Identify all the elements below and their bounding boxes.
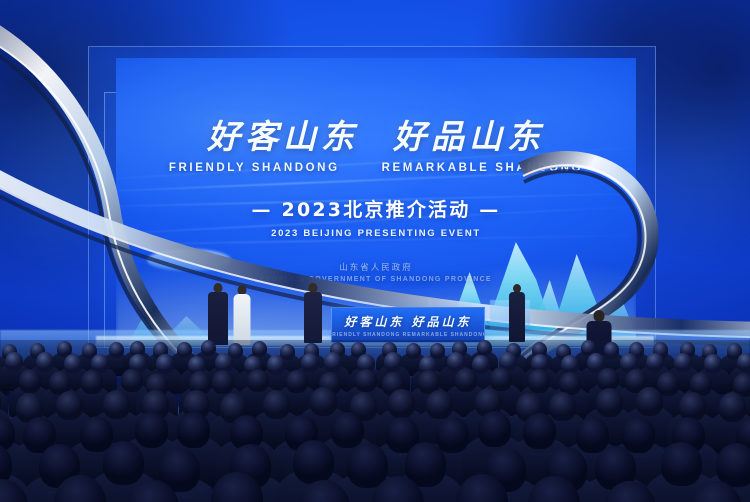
audience-head [384,352,402,371]
event-photo-scene: 好客山东 好品山东 FRIENDLY SHANDONG REMARKABLE S… [0,0,750,502]
screen-text-block: 好客山东 好品山东 FRIENDLY SHANDONG REMARKABLE S… [116,120,636,283]
organizer-cn: 山东省人民政府 [116,261,636,273]
title-right-cn: 好品山东 [393,120,545,155]
audience-head [426,390,453,419]
audience-head [719,392,746,421]
audience-head [549,392,576,421]
audience-head [109,342,124,358]
audience-head [201,340,216,356]
staff-right [508,284,526,342]
body [234,294,251,345]
audience-head [737,353,750,372]
audience-head [263,390,290,419]
audience-head [355,369,377,393]
audience-head [19,369,41,393]
podium-banner: 好客山东 好品山东 FRIENDLY SHANDONG REMARKABLE S… [331,307,485,343]
speaker-at-podium [303,283,323,343]
event-title-cn: — 2023北京推介活动 — [116,195,636,222]
subtitle-right-en: REMARKABLE SHANDONG [382,162,583,174]
audience-head [388,389,415,418]
audience-head [436,417,469,453]
subtitle-row: FRIENDLY SHANDONG REMARKABLE SHANDONG [116,162,636,174]
audience-head [604,342,619,358]
audience-head [478,411,511,447]
title-left-cn: 好客山东 [207,120,359,155]
audience-head [81,370,103,394]
audience-head [646,353,664,372]
body [208,292,228,345]
podium-banner-cn: 好客山东 好品山东 [344,313,471,330]
audience-head [103,390,130,419]
audience-head [324,352,342,371]
audience-head [56,391,83,420]
audience-head [477,340,492,356]
audience-head [523,413,556,449]
audience-head [661,442,702,486]
podium-banner-en: FRIENDLY SHANDONG REMARKABLE SHANDONG [331,332,485,338]
subtitle-left-en: FRIENDLY SHANDONG [169,162,340,174]
audience-head [455,368,477,392]
audience-head [64,354,82,373]
audience-head [674,353,692,372]
audience-head [121,369,143,393]
audience-head [293,440,334,484]
host-female [231,285,253,345]
audience-head [310,387,337,416]
event-title-en: 2023 BEIJING PRESENTING EVENT [116,228,636,239]
audience-head [80,416,113,452]
host-male [207,283,229,345]
audience-head [576,417,609,453]
audience-head [267,355,285,374]
audience-head [252,341,267,357]
audience-head [247,369,269,393]
audience-head [103,441,144,485]
audience-area [0,340,750,502]
audience-head [490,367,512,391]
audience-head [331,412,364,448]
audience-head [636,387,663,416]
audience-head [716,443,750,487]
body [509,292,525,342]
led-screen: 好客山东 好品山东 FRIENDLY SHANDONG REMARKABLE S… [116,58,636,346]
audience-head [622,417,655,453]
audience-head [5,352,23,371]
audience-head [156,354,174,373]
audience-head [528,369,550,393]
organizer-en: PEOPLE'S GOVERNMENT OF SHANDONG PROVINCE [116,276,636,283]
body [304,292,322,343]
audience-head [301,353,319,372]
audience-head [135,412,168,448]
audience-head [406,343,421,359]
audience-head [596,388,623,417]
title-row: 好客山东 好品山东 [116,120,636,155]
audience-head [704,354,722,373]
audience-head [177,412,210,448]
audience-head [36,352,54,371]
audience-head [286,370,308,394]
audience-head [212,370,234,394]
audience-head [177,342,192,358]
